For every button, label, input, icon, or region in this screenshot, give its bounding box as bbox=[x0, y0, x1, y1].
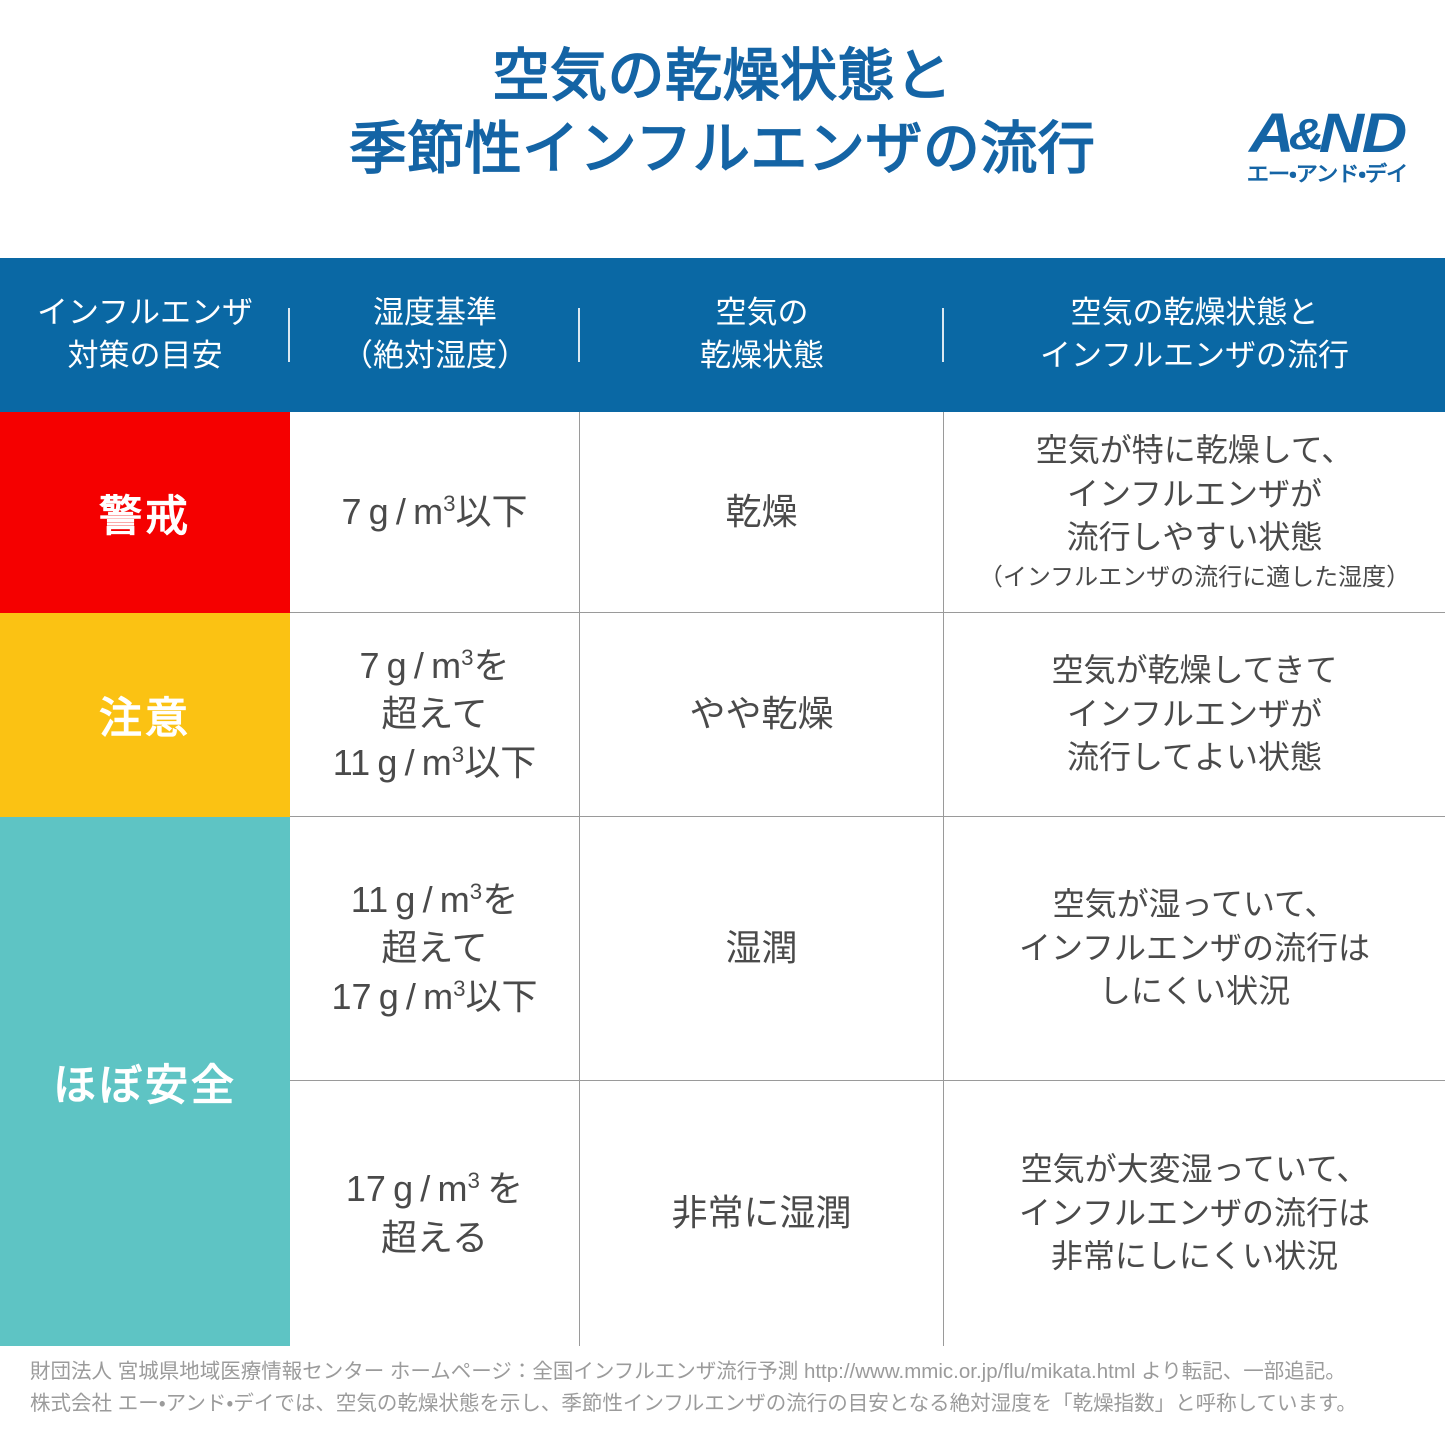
humidity-value-row-4: 17 g / m3 を 超える bbox=[298, 1165, 571, 1261]
table-cell-humidity-row-4: 17 g / m3 を 超える bbox=[290, 1081, 580, 1346]
column-header-epidemic-line-1: 空気の乾燥状態と bbox=[1071, 295, 1319, 330]
level-label-alert: 警戒 bbox=[99, 482, 191, 544]
footnote-line-2: 株式会社 エー・アンド・デイでは、空気の乾燥状態を示し、季節性インフルエンザの流… bbox=[30, 1388, 1430, 1420]
description-line: 空気が湿っていて、 bbox=[952, 883, 1437, 927]
table-cell-description-row-1: 空気が特に乾燥して、 インフルエンザが 流行しやすい状態 （インフルエンザの流行… bbox=[944, 412, 1445, 613]
level-label-caution: 注意 bbox=[99, 684, 191, 746]
and-logo-letters-nd: ND bbox=[1319, 101, 1405, 164]
and-logo-subtitle: エー・アンド・デイ bbox=[1221, 164, 1433, 185]
cubic-superscript: 3 bbox=[453, 976, 465, 1001]
humidity-value-row-2: 7 g / m3を 超えて 11 g / m3以下 bbox=[298, 642, 571, 787]
humidity-value-row-1: 7 g / m3以下 bbox=[298, 488, 571, 536]
column-header-dryness-line-1: 空気の bbox=[716, 295, 809, 330]
humidity-line: 17 g / m3 を bbox=[298, 1165, 571, 1213]
infographic-page: 空気の乾燥状態と 季節性インフルエンザの流行 A&ND エー・アンド・デイ イン… bbox=[0, 0, 1445, 1445]
column-header-humidity: 湿度基準 （絶対湿度） bbox=[290, 292, 580, 378]
cubic-superscript: 3 bbox=[470, 879, 482, 904]
description-line: 空気が乾燥してきて bbox=[952, 649, 1437, 693]
and-logo-mark: A&ND bbox=[1215, 105, 1439, 161]
humidity-line: 7 g / m3を bbox=[298, 642, 571, 690]
level-block-safe: ほぼ安全 bbox=[0, 817, 290, 1346]
humidity-line: 超えて bbox=[298, 690, 571, 738]
column-header-humidity-line-2: （絶対湿度） bbox=[342, 338, 528, 373]
table-cell-humidity-row-1: 7 g / m3以下 bbox=[290, 412, 580, 613]
column-header-measure-line-1: インフルエンザ bbox=[37, 295, 253, 330]
humidity-value-row-3: 11 g / m3を 超えて 17 g / m3以下 bbox=[298, 876, 571, 1021]
cubic-superscript: 3 bbox=[468, 1168, 480, 1193]
footnote-line-1: 財団法人 宮城県地域医療情報センター ホームページ：全国インフルエンザ流行予測 … bbox=[30, 1356, 1430, 1388]
dryness-value-row-4: 非常に湿潤 bbox=[588, 1189, 935, 1237]
humidity-line: 超えて bbox=[298, 924, 571, 972]
description-line: インフルエンザの流行は bbox=[952, 1192, 1437, 1236]
humidity-line: 超える bbox=[298, 1214, 571, 1262]
column-header-dryness-line-2: 乾燥状態 bbox=[700, 338, 824, 373]
column-header-dryness: 空気の 乾燥状態 bbox=[580, 292, 944, 378]
table-cell-description-row-4: 空気が大変湿っていて、 インフルエンザの流行は 非常にしにくい状況 bbox=[944, 1081, 1445, 1346]
page-title-line-2: 季節性インフルエンザの流行 bbox=[120, 113, 1325, 186]
description-line: インフルエンザの流行は bbox=[952, 927, 1437, 971]
cubic-superscript: 3 bbox=[461, 645, 473, 670]
level-label-safe: ほぼ安全 bbox=[53, 1051, 237, 1113]
dryness-value-row-1: 乾燥 bbox=[588, 488, 935, 536]
and-logo: A&ND エー・アンド・デイ bbox=[1227, 105, 1427, 185]
humidity-line: 11 g / m3以下 bbox=[298, 739, 571, 787]
description-line: 流行しやすい状態 bbox=[952, 516, 1437, 560]
and-logo-letter-a: A bbox=[1249, 101, 1292, 164]
column-header-measure: インフルエンザ 対策の目安 bbox=[0, 292, 290, 378]
table-cell-description-row-2: 空気が乾燥してきて インフルエンザが 流行してよい状態 bbox=[944, 613, 1445, 817]
dryness-value-row-2: やや乾燥 bbox=[588, 690, 935, 738]
level-block-alert: 警戒 bbox=[0, 412, 290, 613]
description-line: 空気が特に乾燥して、 bbox=[952, 429, 1437, 473]
cubic-superscript: 3 bbox=[443, 491, 455, 516]
description-row-2: 空気が乾燥してきて インフルエンザが 流行してよい状態 bbox=[952, 649, 1437, 780]
page-title-line-1: 空気の乾燥状態と bbox=[120, 40, 1325, 113]
level-block-caution: 注意 bbox=[0, 613, 290, 817]
table-cell-dryness-row-4: 非常に湿潤 bbox=[580, 1081, 944, 1346]
table-header-row: インフルエンザ 対策の目安 湿度基準 （絶対湿度） 空気の 乾燥状態 空気の乾燥… bbox=[0, 258, 1445, 412]
table-cell-dryness-row-2: やや乾燥 bbox=[580, 613, 944, 817]
description-line: 空気が大変湿っていて、 bbox=[952, 1148, 1437, 1192]
footnote: 財団法人 宮城県地域医療情報センター ホームページ：全国インフルエンザ流行予測 … bbox=[30, 1356, 1430, 1420]
description-note-row-1: （インフルエンザの流行に適した湿度） bbox=[952, 562, 1437, 595]
and-logo-ampersand: & bbox=[1289, 110, 1322, 159]
table-cell-dryness-row-3: 湿潤 bbox=[580, 817, 944, 1081]
description-line: 非常にしにくい状況 bbox=[952, 1235, 1437, 1279]
column-header-humidity-line-1: 湿度基準 bbox=[373, 295, 497, 330]
description-line: しにくい状況 bbox=[952, 970, 1437, 1014]
table-cell-dryness-row-1: 乾燥 bbox=[580, 412, 944, 613]
humidity-line: 11 g / m3を bbox=[298, 876, 571, 924]
description-line: 流行してよい状態 bbox=[952, 736, 1437, 780]
column-header-measure-line-2: 対策の目安 bbox=[68, 338, 223, 373]
dryness-value-row-3: 湿潤 bbox=[588, 924, 935, 972]
cubic-superscript: 3 bbox=[452, 742, 464, 767]
description-row-3: 空気が湿っていて、 インフルエンザの流行は しにくい状況 bbox=[952, 883, 1437, 1014]
humidity-line: 17 g / m3以下 bbox=[298, 973, 571, 1021]
table-cell-humidity-row-3: 11 g / m3を 超えて 17 g / m3以下 bbox=[290, 817, 580, 1081]
dryness-influenza-table: インフルエンザ 対策の目安 湿度基準 （絶対湿度） 空気の 乾燥状態 空気の乾燥… bbox=[0, 258, 1445, 1346]
table-cell-humidity-row-2: 7 g / m3を 超えて 11 g / m3以下 bbox=[290, 613, 580, 817]
column-header-epidemic-line-2: インフルエンザの流行 bbox=[1040, 338, 1349, 373]
column-header-epidemic: 空気の乾燥状態と インフルエンザの流行 bbox=[944, 292, 1445, 378]
description-line: インフルエンザが bbox=[952, 473, 1437, 517]
table-body: 警戒 注意 ほぼ安全 7 g / m3以下 乾燥 空気が特に乾燥して、 インフル… bbox=[0, 412, 1445, 1346]
description-line: インフルエンザが bbox=[952, 693, 1437, 737]
description-row-4: 空気が大変湿っていて、 インフルエンザの流行は 非常にしにくい状況 bbox=[952, 1148, 1437, 1279]
description-row-1: 空気が特に乾燥して、 インフルエンザが 流行しやすい状態 （インフルエンザの流行… bbox=[952, 429, 1437, 594]
table-cell-description-row-3: 空気が湿っていて、 インフルエンザの流行は しにくい状況 bbox=[944, 817, 1445, 1081]
humidity-line: 7 g / m3以下 bbox=[298, 488, 571, 536]
